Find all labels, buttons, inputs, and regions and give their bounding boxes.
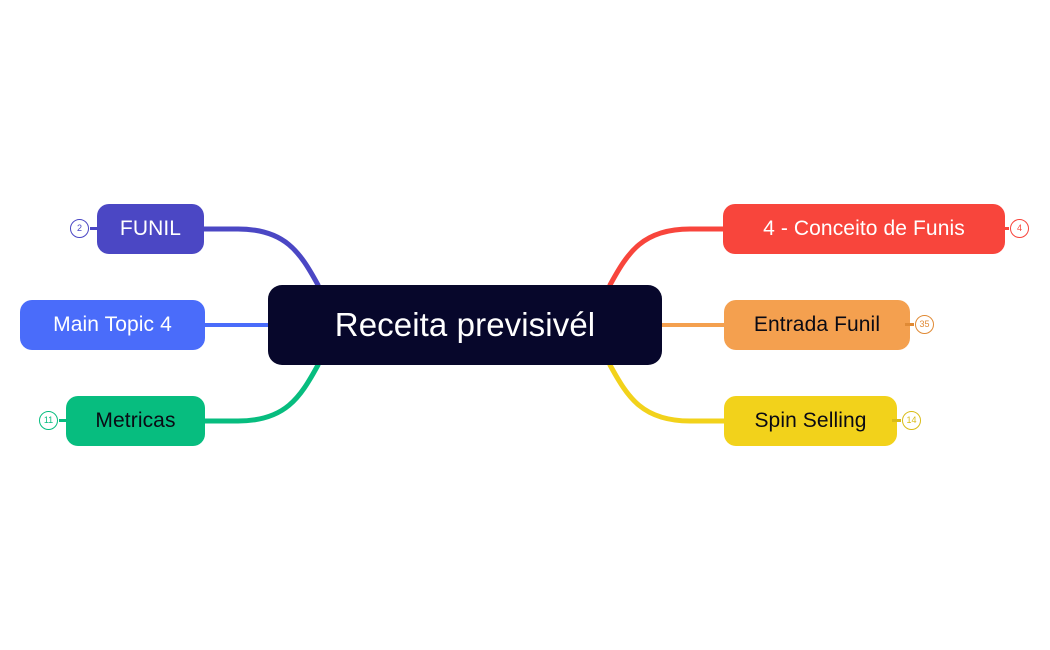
- node-entrada-funil-label: Entrada Funil: [754, 313, 880, 337]
- badge-connector-stub: [1000, 227, 1009, 230]
- badge-connector-stub: [90, 227, 99, 230]
- badge-connector-stub: [892, 419, 901, 422]
- badge-spin-value: 14: [906, 416, 916, 425]
- mindmap-canvas: Receita previsivél FUNIL Main Topic 4 Me…: [0, 0, 1050, 650]
- badge-metricas-count[interactable]: 11: [39, 411, 58, 430]
- badge-spin-count[interactable]: 14: [902, 411, 921, 430]
- node-metricas-label: Metricas: [95, 409, 175, 433]
- badge-conceito-value: 4: [1017, 224, 1022, 233]
- badge-metricas-value: 11: [44, 416, 53, 425]
- edge-conceito: [610, 229, 723, 285]
- central-node-label: Receita previsivél: [335, 306, 595, 344]
- node-entrada-funil[interactable]: Entrada Funil: [724, 300, 910, 350]
- badge-connector-stub: [905, 323, 914, 326]
- central-node[interactable]: Receita previsivél: [268, 285, 662, 365]
- node-funil-label: FUNIL: [120, 217, 181, 241]
- node-spin-selling-label: Spin Selling: [754, 409, 866, 433]
- badge-connector-stub: [59, 419, 68, 422]
- badge-funil-count[interactable]: 2: [70, 219, 89, 238]
- badge-entrada-count[interactable]: 35: [915, 315, 934, 334]
- badge-entrada-value: 35: [919, 320, 929, 329]
- badge-conceito-count[interactable]: 4: [1010, 219, 1029, 238]
- edge-spin: [610, 365, 724, 421]
- node-main-topic-4[interactable]: Main Topic 4: [20, 300, 205, 350]
- node-metricas[interactable]: Metricas: [66, 396, 205, 446]
- node-conceito-de-funis-label: 4 - Conceito de Funis: [763, 217, 965, 241]
- node-funil[interactable]: FUNIL: [97, 204, 204, 254]
- badge-funil-value: 2: [77, 224, 82, 233]
- edge-metricas: [205, 365, 318, 421]
- node-spin-selling[interactable]: Spin Selling: [724, 396, 897, 446]
- node-main-topic-4-label: Main Topic 4: [53, 313, 172, 337]
- node-conceito-de-funis[interactable]: 4 - Conceito de Funis: [723, 204, 1005, 254]
- edge-funil: [204, 229, 318, 285]
